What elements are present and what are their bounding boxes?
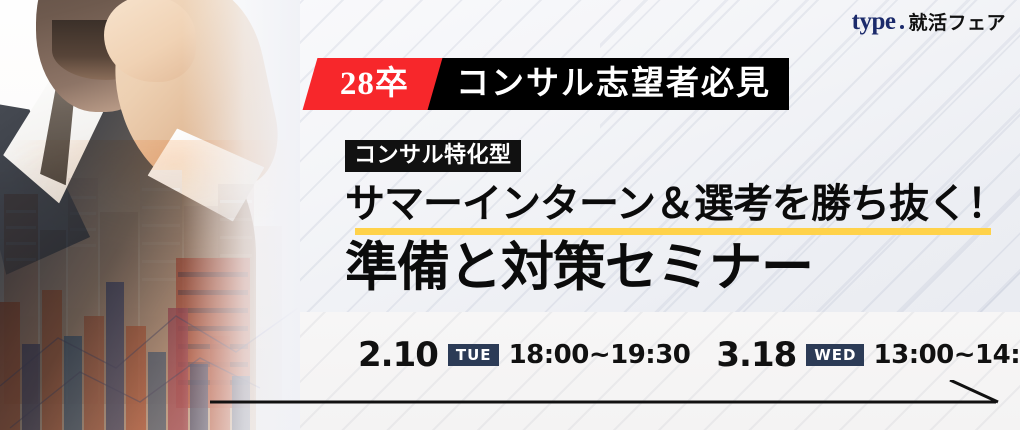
schedule-item: 3.18 WED 13:00~14:30 [716,338,1020,372]
schedule-time: 18:00~19:30 [509,342,691,368]
photo-edge-fade [182,0,300,430]
brand-logo[interactable]: type 就活フェア [852,9,1006,34]
grad-year-badge: 28卒 [303,58,443,110]
headline-underline [355,228,991,235]
logo-dot-icon [900,25,904,29]
schedule-date: 3.18 [716,338,796,372]
arrow-icon [210,380,1000,410]
schedule-time: 13:00~14:30 [874,342,1020,368]
headline-ribbon: 28卒 コンサル志望者必見 [310,58,789,110]
ribbon-main-label: コンサル志望者必見 [456,68,771,101]
hero-photo [0,0,300,430]
grad-year-label: 28卒 [340,68,409,101]
ribbon-main-banner: コンサル志望者必見 [410,58,789,110]
headline-line1-wrapper: サマーインターン＆選考を勝ち抜く！ [345,182,1006,227]
headline-line1: サマーインターン＆選考を勝ち抜く！ [345,182,1006,227]
schedule-date: 2.10 [358,338,438,372]
logo-suffix: 就活フェア [908,14,1006,33]
schedule-weekday-badge: WED [806,344,863,366]
headline-line2: 準備と対策セミナー [345,238,813,298]
category-tag: コンサル特化型 [345,140,521,172]
logo-wordmark: type [852,9,896,34]
schedule-item: 2.10 TUE 18:00~19:30 [358,338,690,372]
schedule-list: 2.10 TUE 18:00~19:30 3.18 WED 13:00~14:3… [358,338,1020,372]
schedule-weekday-badge: TUE [448,344,499,366]
seminar-banner: type 就活フェア 28卒 コンサル志望者必見 コンサル特化型 サマーインター… [0,0,1020,430]
rightward-arrow-rule [210,380,1000,410]
category-tag-label: コンサル特化型 [354,143,512,168]
